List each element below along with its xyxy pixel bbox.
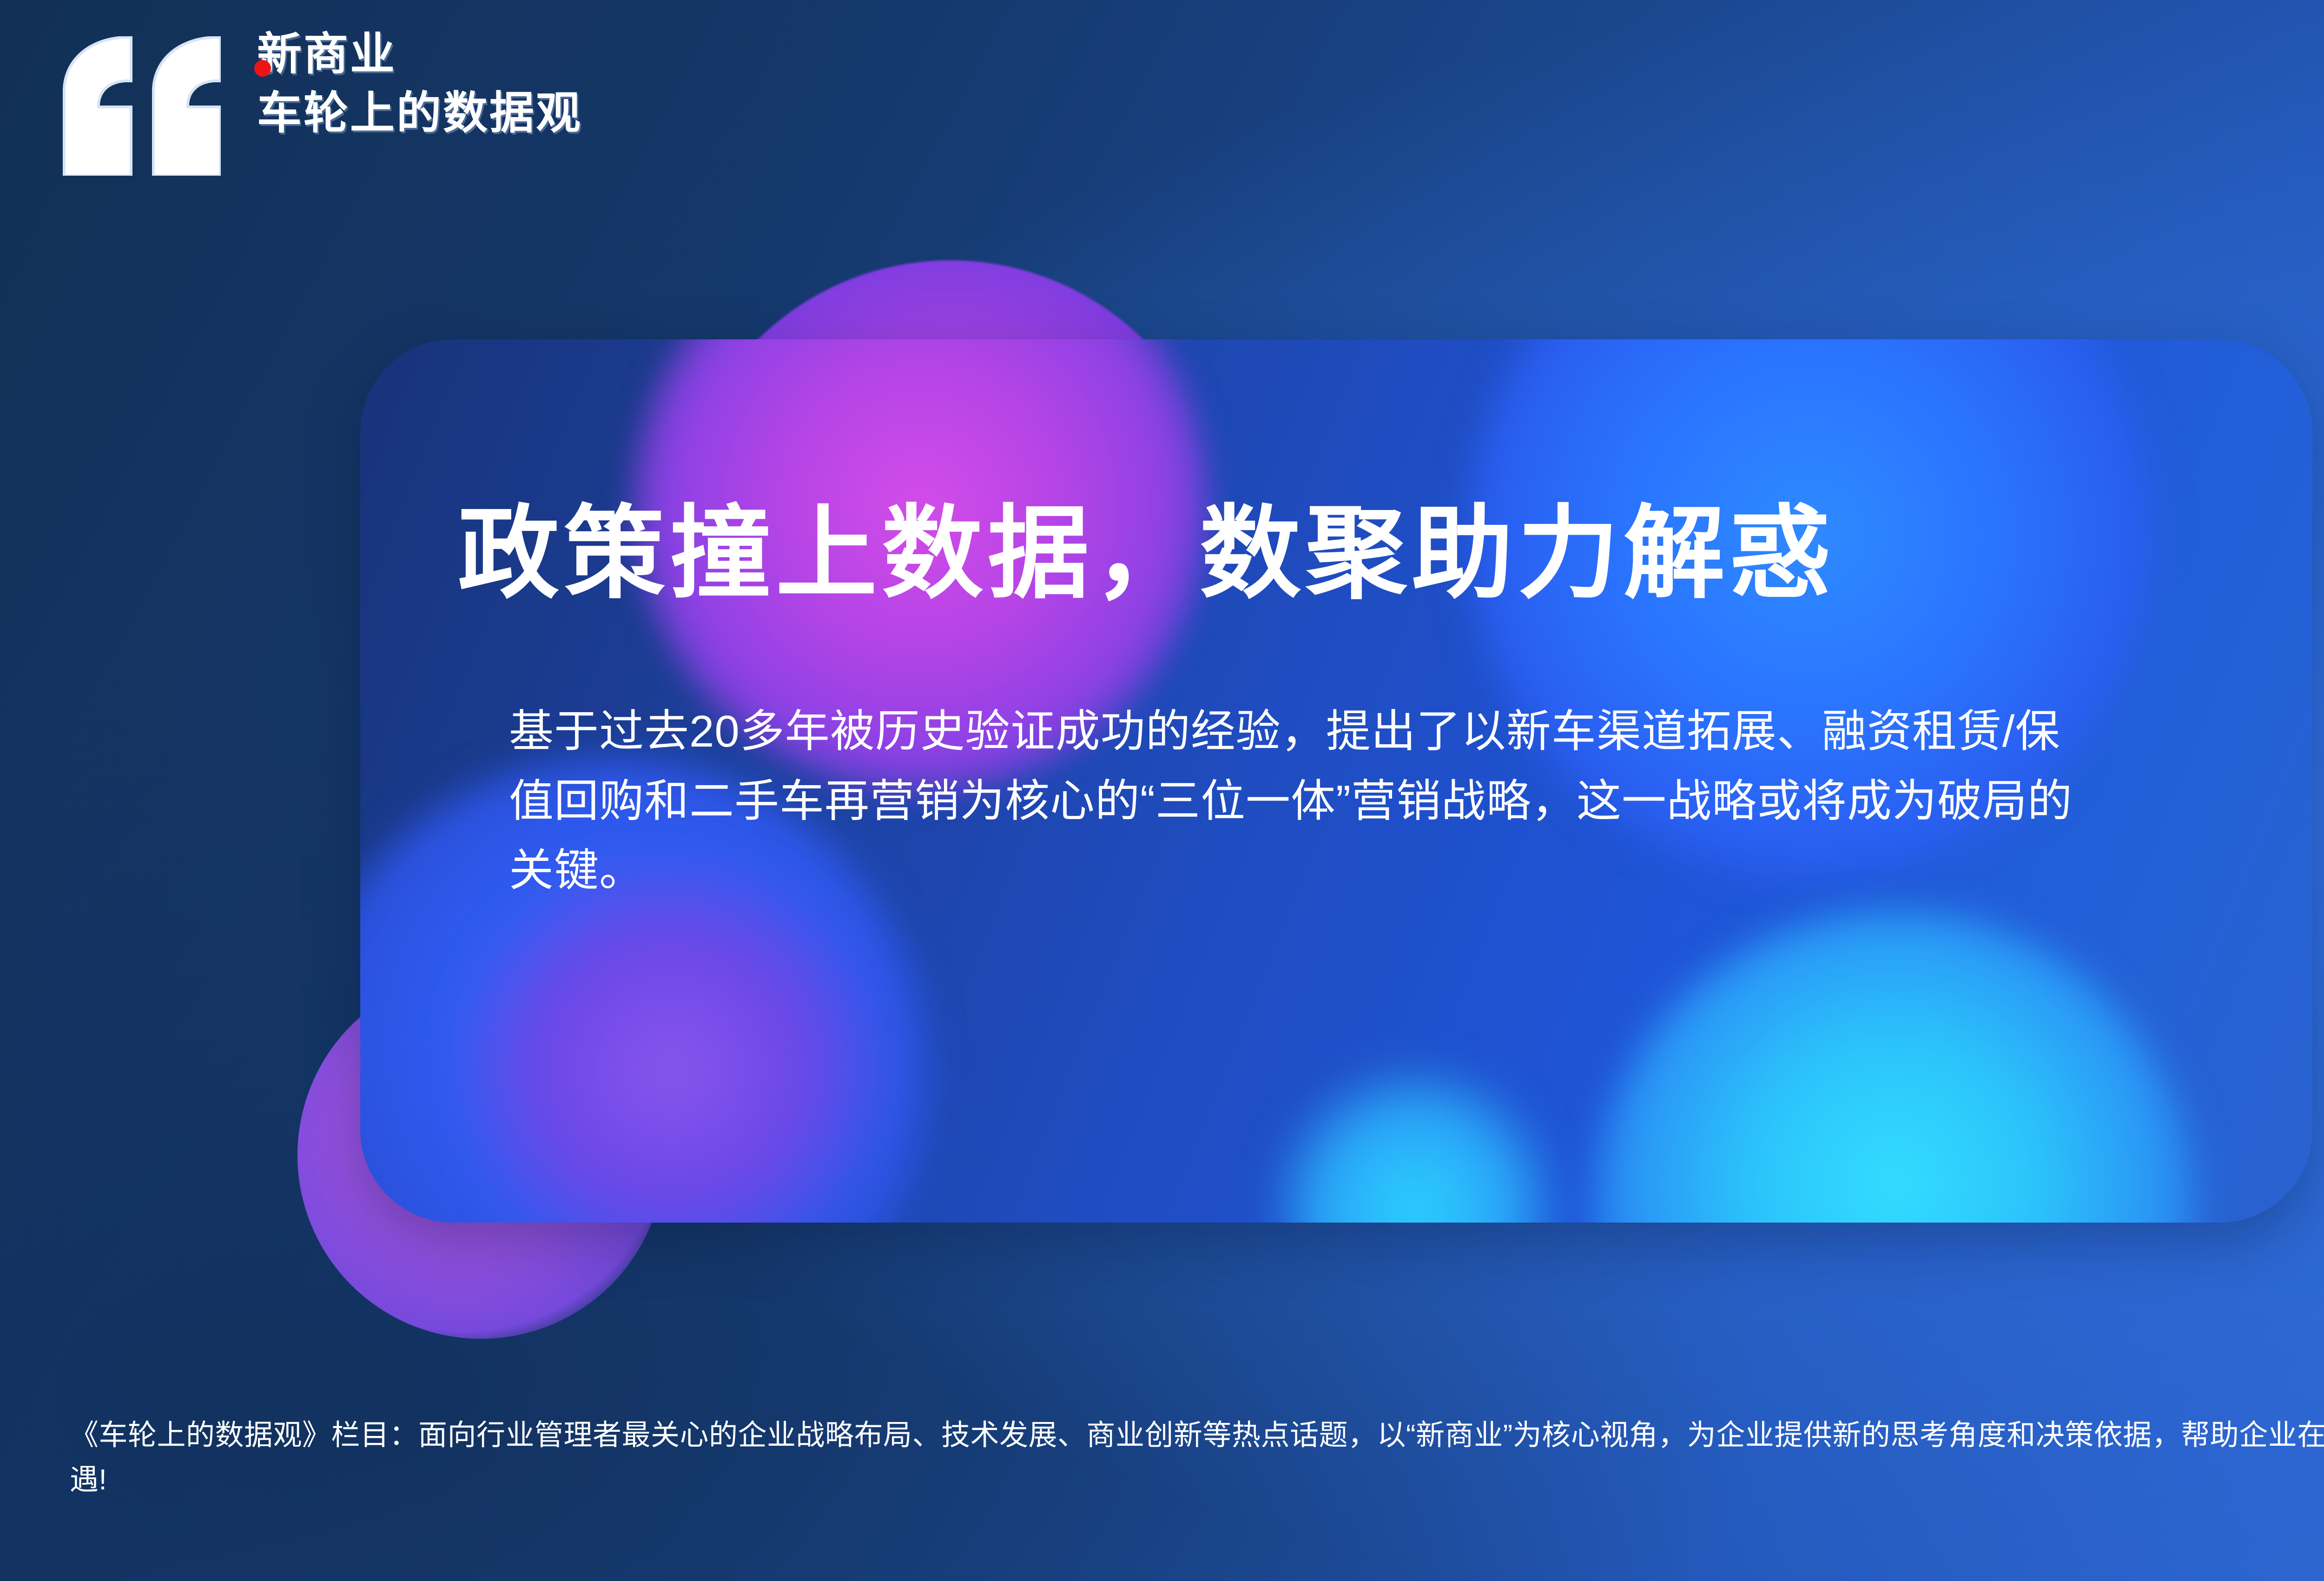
card-cyan-small-glow bbox=[1271, 1065, 1559, 1223]
double-quote-icon bbox=[60, 36, 221, 178]
card-content: 政策撞上数据，数聚助力解惑 基于过去20多年被历史验证成功的经验，提出了以新车渠… bbox=[360, 339, 2312, 906]
red-dot-icon bbox=[254, 60, 271, 77]
brand-line-primary: 新商业 bbox=[257, 28, 582, 80]
brand-header: 新商业 车轮上的数据观 bbox=[60, 28, 582, 178]
card-body-text: 基于过去20多年被历史验证成功的经验，提出了以新车渠道拓展、融资租赁/保值回购和… bbox=[458, 697, 2140, 906]
brand-line-primary-label: 新商业 bbox=[257, 29, 396, 79]
content-card: 政策撞上数据，数聚助力解惑 基于过去20多年被历史验证成功的经验，提出了以新车渠… bbox=[360, 339, 2312, 1223]
card-cyan-glow bbox=[1592, 911, 2196, 1223]
page-title: 政策撞上数据，数聚助力解惑 bbox=[458, 496, 2219, 613]
card-violet-glow bbox=[462, 860, 881, 1223]
brand-line-secondary: 车轮上的数据观 bbox=[257, 87, 582, 139]
brand-text-block: 新商业 车轮上的数据观 bbox=[257, 28, 582, 140]
poster-canvas: 新商业 车轮上的数据观 政策撞上数据，数聚助力解惑 基于过去20多年被历史验证成… bbox=[0, 0, 2324, 1581]
footer-description: 《车轮上的数据观》栏目：面向行业管理者最关心的企业战略布局、技术发展、商业创新等… bbox=[70, 1413, 2324, 1502]
